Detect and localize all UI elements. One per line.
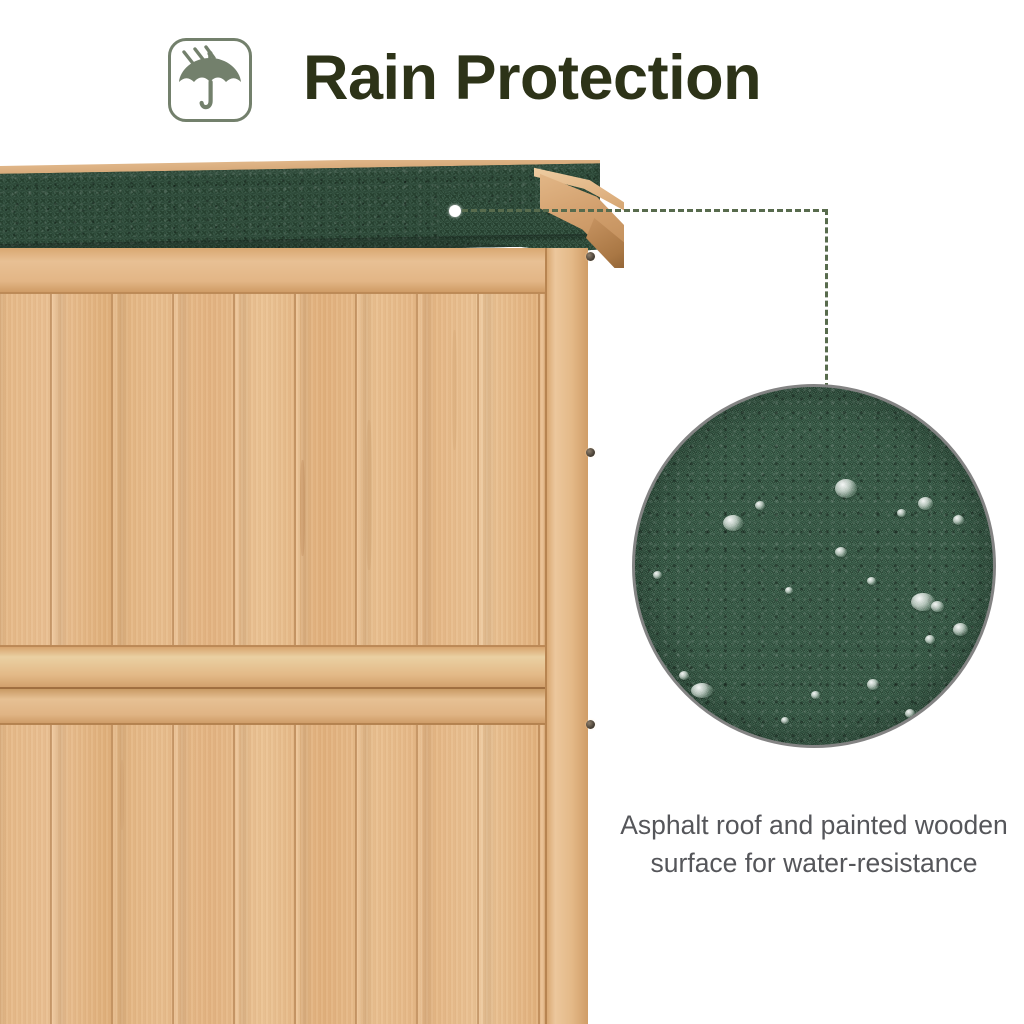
header: Rain Protection [0,0,1024,160]
water-droplet [953,515,964,525]
roof-detail-marker-dot [449,205,461,217]
rain-umbrella-icon [168,38,252,122]
water-droplet [953,623,968,636]
shed-cross-rail-lower [0,687,588,725]
water-droplet [679,671,689,680]
product-photo-shed [0,160,624,1024]
screw-icon [586,720,595,729]
wood-grain-mark [300,460,305,556]
shed-wall-planks [0,248,588,1024]
water-droplet [691,683,713,698]
water-droplet [653,571,662,579]
wood-grain-mark [366,420,372,570]
water-droplet [925,635,935,644]
water-droplet [918,497,933,510]
caption-line-2: surface for water-resistance [600,844,1024,882]
water-droplet [811,691,820,699]
water-droplet [931,601,944,612]
dashed-leader-line-horizontal [462,209,828,212]
shed-top-trim-board [0,248,588,294]
water-droplet [835,479,857,498]
page-title: Rain Protection [303,35,761,121]
screw-icon [586,448,595,457]
wood-grain-mark [120,760,124,830]
screw-icon [586,252,595,261]
water-droplet [755,501,765,510]
dashed-leader-line-vertical [825,209,828,389]
asphalt-roof-closeup [632,384,996,748]
callout-caption: Asphalt roof and painted wooden surface … [600,806,1024,882]
water-droplet [867,679,879,690]
caption-line-1: Asphalt roof and painted wooden [600,806,1024,844]
shed-cross-rail-upper [0,645,588,687]
water-droplet [897,509,906,517]
water-droplet [723,515,743,531]
water-droplet [905,709,915,718]
water-droplet [835,547,847,557]
wood-grain-mark [452,330,457,450]
water-droplet [867,577,876,585]
shed-corner-post [545,248,588,1024]
water-droplet [785,587,793,594]
infographic-canvas: Rain Protection [0,0,1024,1024]
water-droplet [781,717,789,724]
